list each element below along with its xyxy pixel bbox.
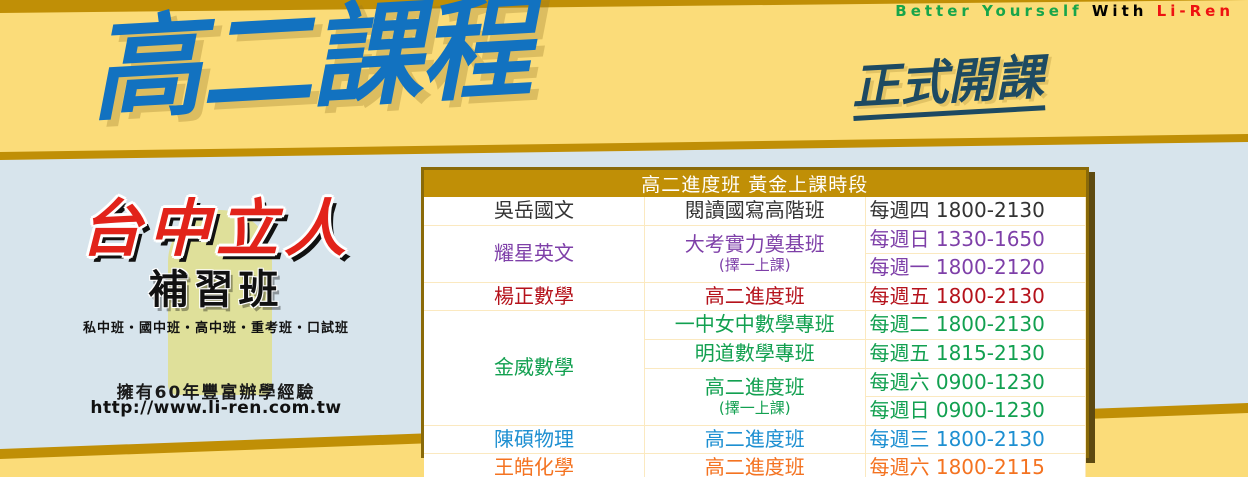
time-cell: 每週一 1800-2120 bbox=[865, 254, 1086, 283]
time-text: 每週一 1800-2120 bbox=[870, 256, 1105, 280]
tagline-red: Li-Ren bbox=[1157, 2, 1234, 20]
time-text: 每週日 0900-1230 bbox=[870, 399, 1105, 423]
course-cell: 高二進度班 bbox=[645, 425, 866, 454]
teacher-cell: 王皓化學 bbox=[424, 454, 645, 477]
course-cell: 閱讀國寫高階班 bbox=[645, 197, 866, 225]
table-row: 楊正數學高二進度班每週五 1800-2130 bbox=[424, 282, 1086, 311]
tagline-black: With bbox=[1092, 2, 1148, 20]
time-cell: 每週六 1800-2115 bbox=[865, 454, 1086, 477]
teacher-cell: 吳岳國文 bbox=[424, 197, 645, 225]
course-note: (擇一上課) bbox=[649, 257, 861, 275]
teacher-cell: 耀星英文 bbox=[424, 225, 645, 282]
schedule-body: 吳岳國文閱讀國寫高階班每週四 1800-2130耀星英文大考實力奠基班(擇一上課… bbox=[424, 197, 1086, 477]
time-text: 每週五 1800-2130 bbox=[870, 285, 1105, 309]
schedule-header-row: 高二進度班 黃金上課時段 bbox=[424, 170, 1086, 197]
time-text: 每週五 1815-2130 bbox=[870, 342, 1105, 366]
time-text: 每週六 0900-1230 bbox=[870, 371, 1105, 395]
tagline: Better Yourself With Li-Ren bbox=[895, 2, 1234, 20]
tagline-green: Better Yourself bbox=[895, 2, 1082, 20]
table-row: 王皓化學高二進度班每週六 1800-2115 bbox=[424, 454, 1086, 477]
logo-brand-name: 台中立人 bbox=[46, 196, 386, 261]
time-cell: 每週六 0900-1230 bbox=[865, 368, 1086, 397]
page-title: 高二課程 bbox=[87, 0, 533, 128]
time-text: 每週日 1330-1650 bbox=[870, 228, 1105, 252]
teacher-cell: 楊正數學 bbox=[424, 282, 645, 311]
time-cell: 每週四 1800-2130 bbox=[865, 197, 1086, 225]
course-cell: 高二進度班 bbox=[645, 282, 866, 311]
time-cell: 每週三 1800-2130 bbox=[865, 425, 1086, 454]
table-row: 耀星英文大考實力奠基班(擇一上課)每週日 1330-1650 bbox=[424, 225, 1086, 254]
time-cell: 每週日 1330-1650 bbox=[865, 225, 1086, 254]
course-cell: 大考實力奠基班(擇一上課) bbox=[645, 225, 866, 282]
course-cell: 高二進度班 bbox=[645, 454, 866, 477]
schedule-title: 高二進度班 黃金上課時段 bbox=[424, 170, 1086, 197]
time-text: 每週四 1800-2130 bbox=[870, 199, 1105, 223]
course-note: (擇一上課) bbox=[649, 400, 861, 418]
course-cell: 一中女中數學專班 bbox=[645, 311, 866, 340]
teacher-cell: 金威數學 bbox=[424, 311, 645, 425]
teacher-cell: 陳碩物理 bbox=[424, 425, 645, 454]
table-row: 金威數學一中女中數學專班每週二 1800-2130 bbox=[424, 311, 1086, 340]
poster-root: Better Yourself With Li-Ren 高二課程 正式開課 台中… bbox=[0, 0, 1248, 477]
schedule-grid: 高二進度班 黃金上課時段 吳岳國文閱讀國寫高階班每週四 1800-2130耀星英… bbox=[424, 170, 1086, 477]
table-row: 吳岳國文閱讀國寫高階班每週四 1800-2130 bbox=[424, 197, 1086, 225]
table-row: 陳碩物理高二進度班每週三 1800-2130 bbox=[424, 425, 1086, 454]
schedule-table: 高二進度班 黃金上課時段 吳岳國文閱讀國寫高階班每週四 1800-2130耀星英… bbox=[421, 167, 1089, 458]
time-text: 每週六 1800-2115 bbox=[870, 456, 1105, 477]
schedule-head: 高二進度班 黃金上課時段 bbox=[424, 170, 1086, 197]
time-cell: 每週日 0900-1230 bbox=[865, 397, 1086, 426]
time-cell: 每週五 1815-2130 bbox=[865, 339, 1086, 368]
course-cell: 明道數學專班 bbox=[645, 339, 866, 368]
website-url[interactable]: http://www.li-ren.com.tw bbox=[46, 398, 386, 418]
course-cell: 高二進度班(擇一上課) bbox=[645, 368, 866, 425]
time-text: 每週三 1800-2130 bbox=[870, 428, 1105, 452]
logo-brand-sub: 補習班 bbox=[46, 257, 386, 315]
time-cell: 每週五 1800-2130 bbox=[865, 282, 1086, 311]
time-text: 每週二 1800-2130 bbox=[870, 313, 1105, 337]
logo: 台中立人 補習班 私中班・國中班・高中班・重考班・口試班 bbox=[46, 196, 386, 336]
time-cell: 每週二 1800-2130 bbox=[865, 311, 1086, 340]
page-subtitle: 正式開課 bbox=[850, 52, 1045, 120]
logo-class-types: 私中班・國中班・高中班・重考班・口試班 bbox=[46, 317, 386, 336]
